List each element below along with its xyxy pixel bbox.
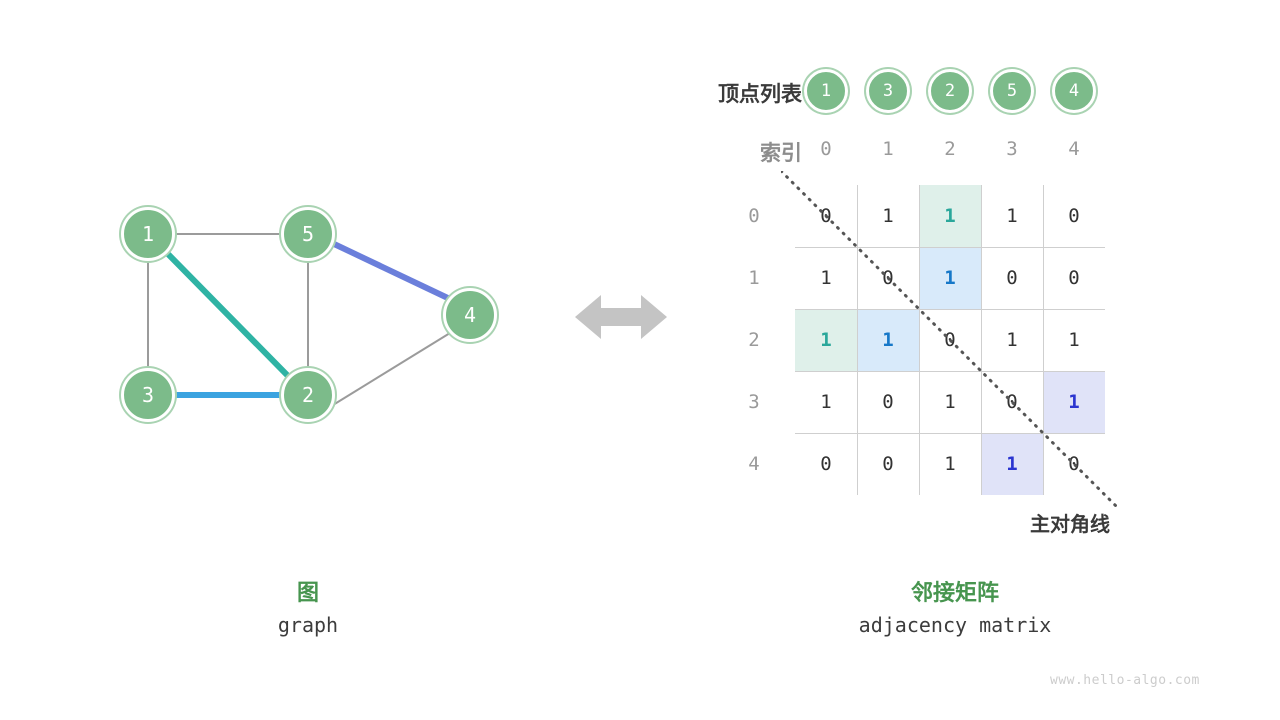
vertex-list-node-4[interactable]: 4 xyxy=(1052,69,1096,113)
column-index-1: 1 xyxy=(857,138,919,160)
grid-line-horizontal-3 xyxy=(795,371,1105,372)
matrix-cell-0-3: 1 xyxy=(981,185,1043,247)
vertex-list-node-2[interactable]: 2 xyxy=(928,69,972,113)
adjacency-matrix-grid: 0111010100110111010100110 xyxy=(795,185,1105,495)
row-index-3: 3 xyxy=(730,371,778,433)
matrix-cell-0-2: 1 xyxy=(919,185,981,247)
column-index-4: 4 xyxy=(1043,138,1105,160)
matrix-cell-2-4: 1 xyxy=(1043,309,1105,371)
graph-node-3[interactable]: 3 xyxy=(121,368,175,422)
graph-node-2[interactable]: 2 xyxy=(281,368,335,422)
matrix-cell-2-0: 1 xyxy=(795,309,857,371)
matrix-cell-3-0: 1 xyxy=(795,371,857,433)
matrix-cell-4-3: 1 xyxy=(981,433,1043,495)
matrix-caption-cn: 邻接矩阵 xyxy=(855,575,1055,607)
matrix-cell-4-1: 0 xyxy=(857,433,919,495)
graph-panel: 15432 xyxy=(0,0,600,720)
grid-line-vertical-3 xyxy=(981,185,982,495)
row-index-1: 1 xyxy=(730,247,778,309)
row-index-4: 4 xyxy=(730,433,778,495)
matrix-cell-3-3: 0 xyxy=(981,371,1043,433)
graph-caption-cn: 图 xyxy=(208,575,408,607)
graph-edge-1-2 xyxy=(168,254,291,379)
matrix-panel: 顶点列表 索引 13254 01234 01234 01110101001101… xyxy=(600,0,1280,720)
graph-node-4[interactable]: 4 xyxy=(443,288,497,342)
matrix-cell-2-2: 0 xyxy=(919,309,981,371)
graph-node-1[interactable]: 1 xyxy=(121,207,175,261)
graph-edge-2-4 xyxy=(333,333,450,405)
index-label: 索引 xyxy=(672,137,802,167)
matrix-cell-4-0: 0 xyxy=(795,433,857,495)
vertex-list-node-1[interactable]: 3 xyxy=(866,69,910,113)
matrix-cell-3-4: 1 xyxy=(1043,371,1105,433)
column-index-2: 2 xyxy=(919,138,981,160)
matrix-cell-0-4: 0 xyxy=(1043,185,1105,247)
matrix-cell-0-0: 0 xyxy=(795,185,857,247)
vertex-list-node-0[interactable]: 1 xyxy=(804,69,848,113)
graph-node-5[interactable]: 5 xyxy=(281,207,335,261)
matrix-cell-4-2: 1 xyxy=(919,433,981,495)
row-index-2: 2 xyxy=(730,309,778,371)
watermark: www.hello-algo.com xyxy=(1050,673,1200,688)
diagram-canvas: 15432 顶点列表 索引 13254 01234 01234 01110101… xyxy=(0,0,1280,720)
matrix-cell-0-1: 1 xyxy=(857,185,919,247)
graph-edge-5-4 xyxy=(332,243,452,300)
grid-line-horizontal-1 xyxy=(795,247,1105,248)
graph-edges xyxy=(0,0,600,720)
matrix-cell-1-3: 0 xyxy=(981,247,1043,309)
matrix-cell-1-0: 1 xyxy=(795,247,857,309)
matrix-cell-2-3: 1 xyxy=(981,309,1043,371)
column-index-0: 0 xyxy=(795,138,857,160)
grid-line-horizontal-4 xyxy=(795,433,1105,434)
vertex-list-node-3[interactable]: 5 xyxy=(990,69,1034,113)
column-index-3: 3 xyxy=(981,138,1043,160)
matrix-caption-en: adjacency matrix xyxy=(805,613,1105,637)
vertex-list-label: 顶点列表 xyxy=(672,78,802,108)
main-diagonal-label: 主对角线 xyxy=(1030,508,1110,537)
matrix-cell-1-2: 1 xyxy=(919,247,981,309)
matrix-cell-1-1: 0 xyxy=(857,247,919,309)
matrix-cell-3-2: 1 xyxy=(919,371,981,433)
matrix-cell-2-1: 1 xyxy=(857,309,919,371)
matrix-cell-1-4: 0 xyxy=(1043,247,1105,309)
grid-line-vertical-1 xyxy=(857,185,858,495)
grid-line-horizontal-2 xyxy=(795,309,1105,310)
row-index-0: 0 xyxy=(730,185,778,247)
matrix-cell-4-4: 0 xyxy=(1043,433,1105,495)
matrix-cell-3-1: 0 xyxy=(857,371,919,433)
grid-line-vertical-2 xyxy=(919,185,920,495)
grid-line-vertical-4 xyxy=(1043,185,1044,495)
graph-caption-en: graph xyxy=(208,613,408,637)
